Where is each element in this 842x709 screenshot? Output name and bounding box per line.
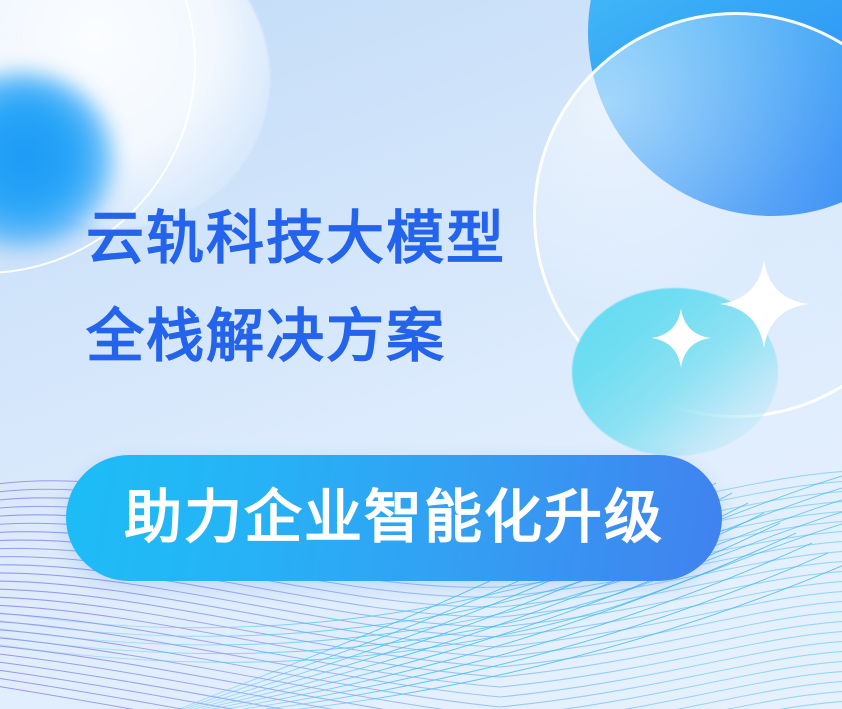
page-title: 云轨科技大模型 全栈解决方案 [86,190,506,386]
headline-line-1: 云轨科技大模型 [86,190,506,288]
cta-button-label: 助力企业智能化升级 [124,489,664,547]
decorative-ring-top-right [533,12,842,418]
promo-banner: 云轨科技大模型 全栈解决方案 助力企业智能化升级 [0,0,842,709]
decorative-circle-top-right [588,0,842,216]
sparkle-small-icon [650,307,712,369]
sparkle-large-icon [718,258,810,350]
cta-button[interactable]: 助力企业智能化升级 [66,455,722,581]
headline-line-2: 全栈解决方案 [86,288,506,386]
decorative-disc-cyan [572,288,778,456]
